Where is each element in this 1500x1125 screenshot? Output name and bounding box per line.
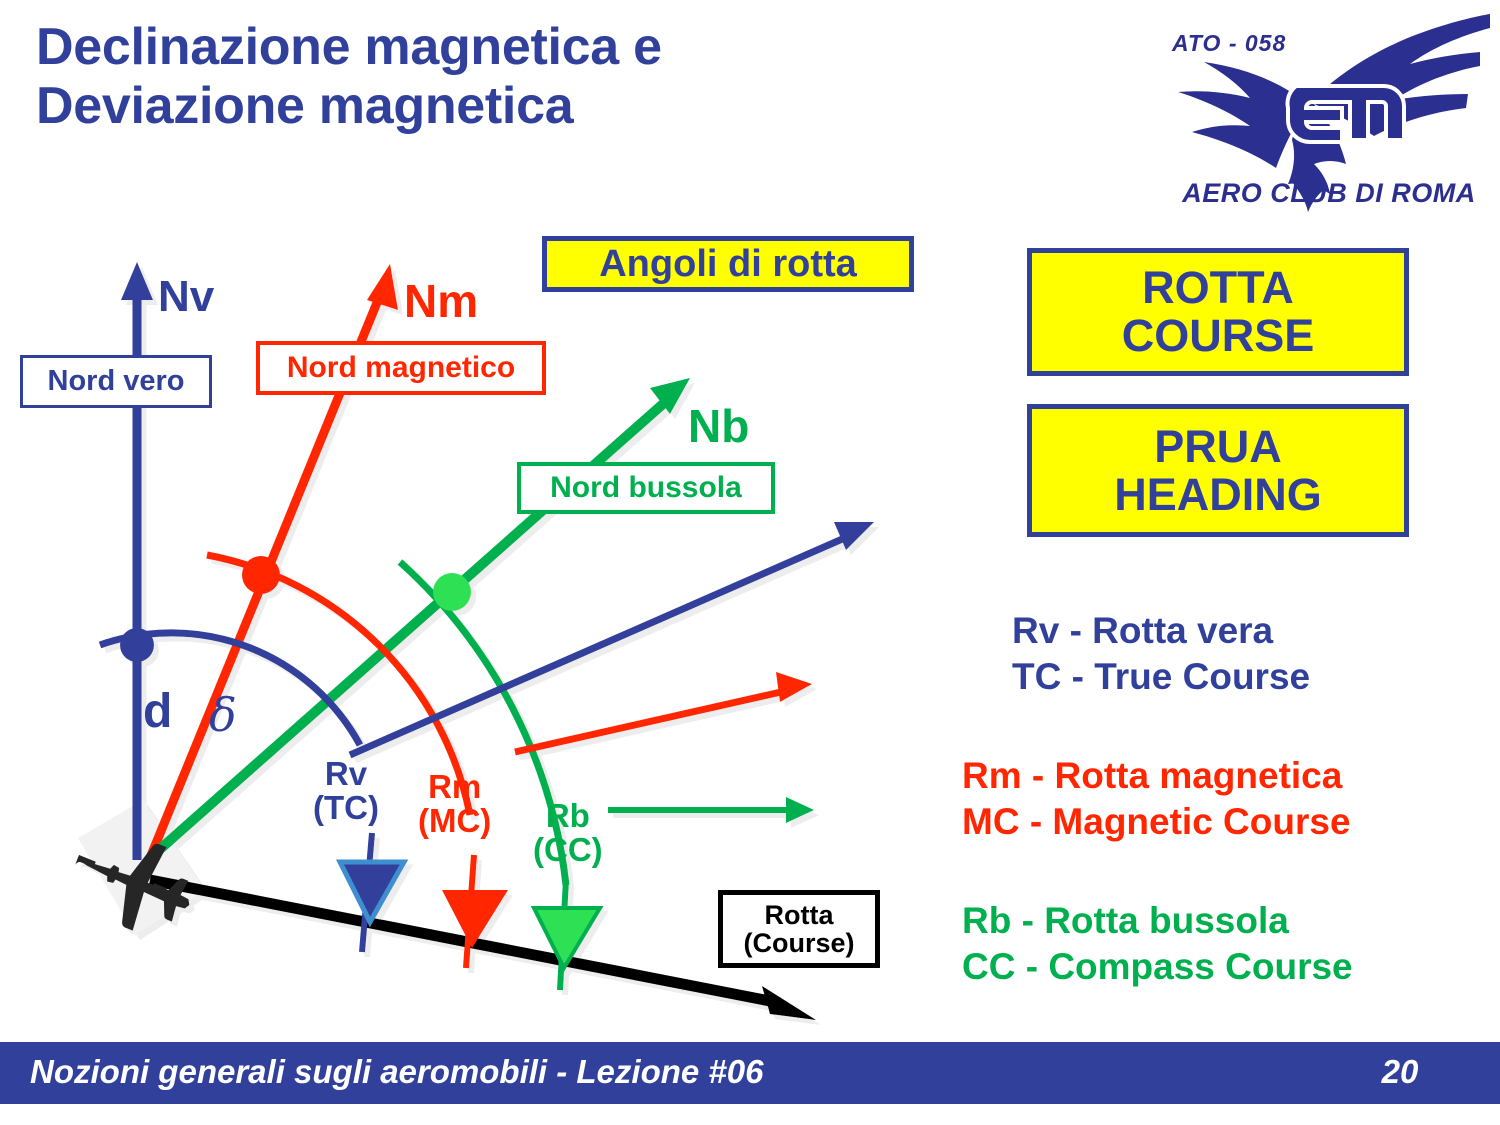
dot-nm-arc [242, 556, 280, 594]
legend-magnetic-course: Rm - Rotta magnetica MC - Magnetic Cours… [962, 753, 1351, 846]
axis-nv-true-north [121, 262, 153, 860]
pointer-rv [340, 833, 404, 952]
angle-label-rm: Rm (MC) [418, 770, 491, 837]
label-box-nord-magnetico: Nord magnetico [256, 341, 546, 395]
angle-label-rv: Rv (TC) [313, 757, 379, 824]
axis-label-nb: Nb [688, 403, 749, 450]
course-line-rb [608, 797, 814, 823]
label-box-rotta-course: Rotta (Course) [718, 890, 880, 968]
aircraft-plate [78, 800, 205, 935]
label-box-nord-vero: Nord vero [20, 355, 212, 408]
dot-nb-arc [433, 573, 471, 611]
dot-nv-arc [120, 628, 154, 662]
angle-label-d: d [143, 688, 172, 737]
logo-organization-name: AERO CLUB DI ROMA [1168, 178, 1490, 209]
legend-true-course: Rv - Rotta vera TC - True Course [1012, 608, 1310, 701]
course-line-rm [515, 672, 812, 752]
course-line-rv [350, 522, 874, 755]
pointer-rb [534, 880, 600, 990]
pointer-rm [442, 855, 508, 968]
logo-ato-code: ATO - 058 [1172, 30, 1286, 57]
page-title: Declinazione magnetica e Deviazione magn… [36, 18, 856, 136]
callout-angoli-di-rotta: Angoli di rotta [542, 236, 914, 292]
footer-lesson-title: Nozioni generali sugli aeromobili - Lezi… [30, 1053, 763, 1091]
angle-label-delta: δ [209, 692, 237, 739]
axis-label-nm: Nm [404, 278, 478, 325]
footer-page-number: 20 [1360, 1053, 1440, 1091]
course-track-black [150, 880, 816, 1020]
angle-label-rb: Rb (CC) [533, 799, 603, 866]
slide-canvas: Declinazione magnetica e Deviazione magn… [0, 0, 1500, 1125]
legend-compass-course: Rb - Rotta bussola CC - Compass Course [962, 898, 1353, 991]
callout-prua-heading: PRUA HEADING [1027, 404, 1409, 537]
axis-label-nv: Nv [158, 275, 214, 320]
callout-rotta-course: ROTTA COURSE [1027, 248, 1409, 376]
label-box-nord-bussola: Nord bussola [517, 462, 775, 514]
airplane-icon [60, 818, 206, 947]
